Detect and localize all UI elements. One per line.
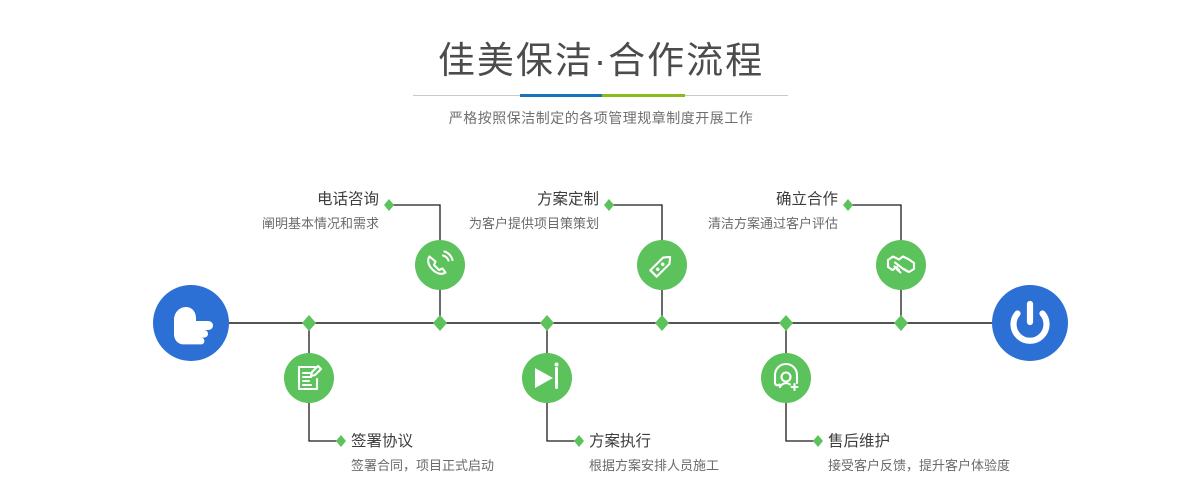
axis-node-step-1 — [433, 315, 447, 331]
label-marker-step-6 — [813, 435, 823, 447]
axis-node-step-3 — [655, 315, 669, 331]
step-6-title: 售后维护 — [828, 432, 890, 450]
step-node-2[interactable] — [284, 353, 334, 403]
step-4-title: 方案执行 — [589, 432, 651, 450]
step-6-circle — [761, 353, 811, 403]
page-subtitle: 严格按照保洁制定的各项管理规章制度开展工作 — [0, 107, 1202, 129]
step-label-2: 签署协议 签署合同，项目正式启动 — [351, 432, 494, 473]
title-divider — [413, 94, 788, 97]
step-6-desc: 接受客户反馈，提升客户体验度 — [828, 458, 1010, 473]
step-label-1: 电话咨询 阐明基本情况和需求 — [262, 190, 379, 231]
process-flow-diagram: 电话咨询 阐明基本情况和需求 方案定制 为客户提供项目策策划 确立合作 清洁方案… — [0, 150, 1202, 502]
step-1-title: 电话咨询 — [317, 190, 379, 208]
divider-segment-green — [602, 94, 685, 97]
label-marker-step-1 — [384, 199, 394, 211]
flow-start-node[interactable] — [153, 285, 229, 361]
divider-segment-blue — [520, 94, 602, 97]
label-marker-step-3 — [604, 199, 614, 211]
step-label-4: 方案执行 根据方案安排人员施工 — [589, 432, 719, 473]
label-marker-step-5 — [843, 199, 853, 211]
step-5-title: 确立合作 — [776, 190, 838, 208]
step-1-desc: 阐明基本情况和需求 — [262, 216, 379, 231]
infographic-page: 佳美保洁·合作流程 严格按照保洁制定的各项管理规章制度开展工作 — [0, 0, 1202, 502]
step-2-title: 签署协议 — [351, 432, 414, 450]
step-node-1[interactable] — [415, 240, 465, 290]
step-3-desc: 为客户提供项目策策划 — [469, 216, 599, 231]
label-marker-step-2 — [336, 435, 346, 447]
step-5-circle — [876, 240, 926, 290]
step-2-desc: 签署合同，项目正式启动 — [351, 458, 494, 473]
step-4-desc: 根据方案安排人员施工 — [589, 458, 719, 473]
step-label-5: 确立合作 清洁方案通过客户评估 — [708, 190, 838, 231]
flow-end-node[interactable] — [992, 285, 1068, 361]
step-label-6: 售后维护 接受客户反馈，提升客户体验度 — [828, 432, 1010, 473]
step-node-5[interactable] — [876, 240, 926, 290]
axis-node-step-4 — [540, 315, 554, 331]
axis-node-step-2 — [302, 315, 316, 331]
step-label-3: 方案定制 为客户提供项目策策划 — [469, 190, 599, 231]
step-node-3[interactable] — [637, 240, 687, 290]
step-node-6[interactable] — [761, 353, 811, 403]
step-3-title: 方案定制 — [537, 190, 599, 208]
step-1-circle — [415, 240, 465, 290]
label-marker-step-4 — [574, 435, 584, 447]
axis-node-step-6 — [779, 315, 793, 331]
page-title: 佳美保洁·合作流程 — [0, 38, 1202, 84]
axis-node-step-5 — [894, 315, 908, 331]
step-5-desc: 清洁方案通过客户评估 — [708, 216, 838, 231]
step-node-4[interactable] — [522, 353, 572, 403]
